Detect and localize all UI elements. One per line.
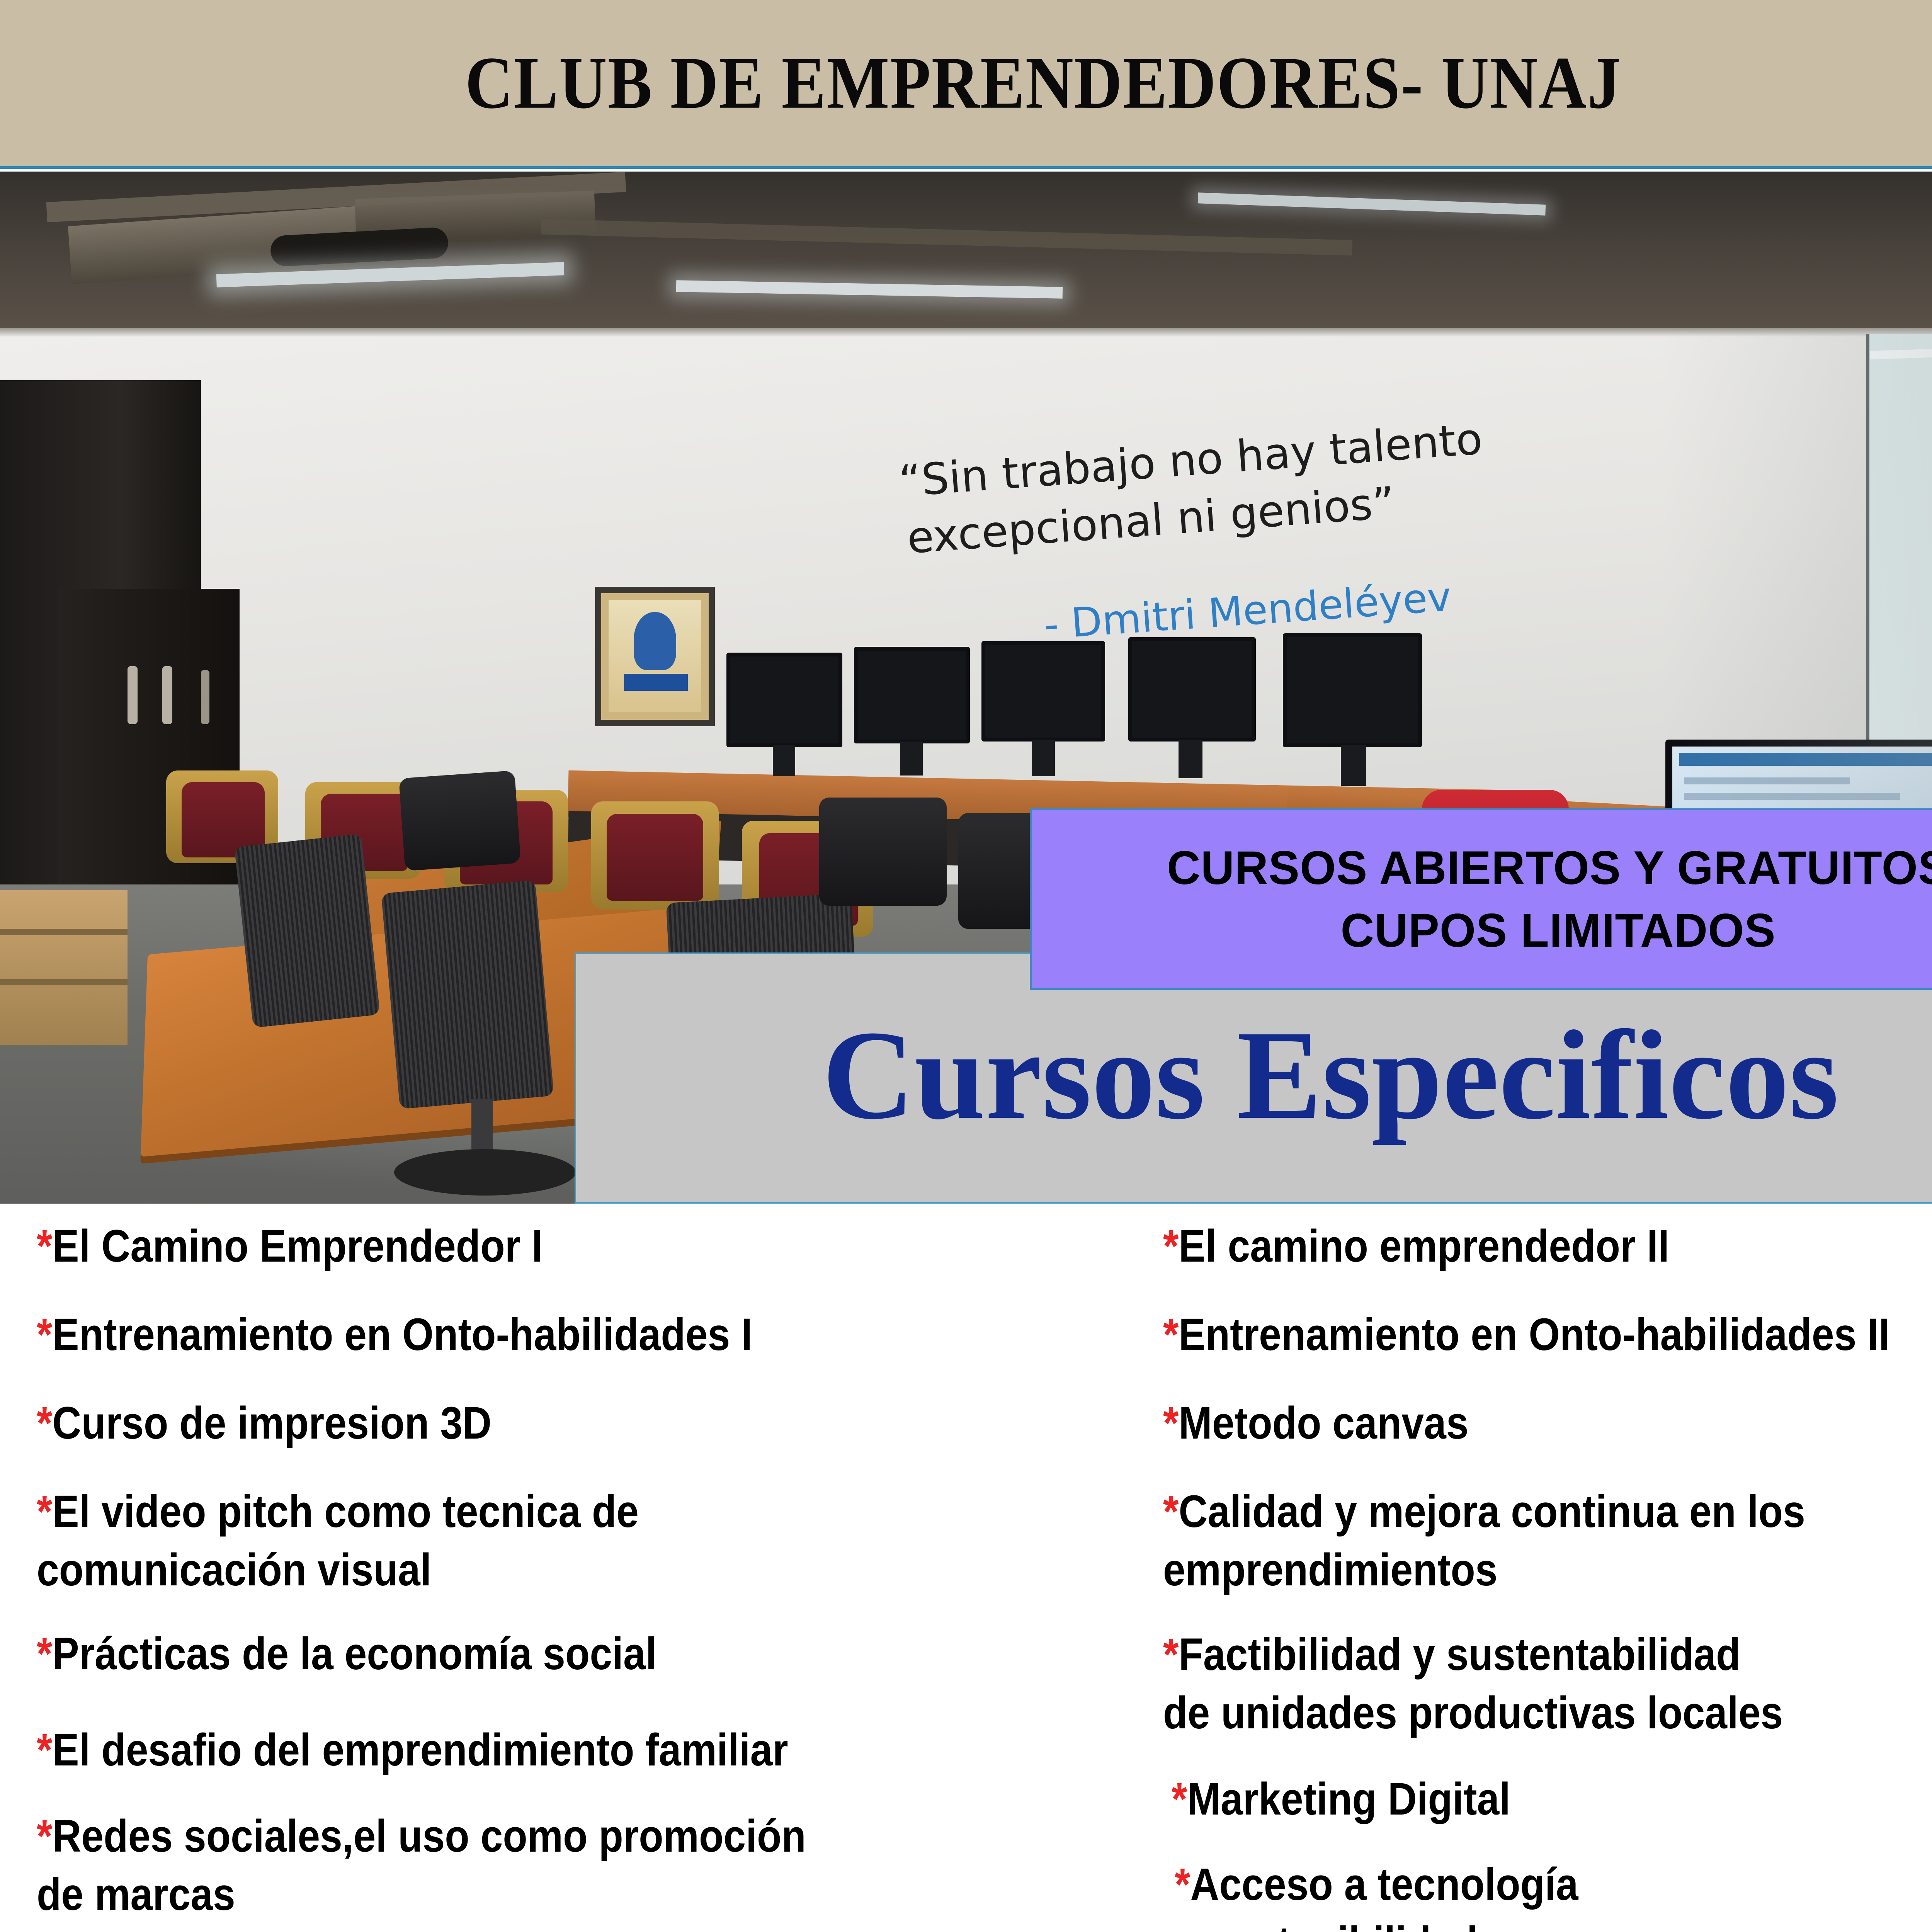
course-label: El video pitch como tecnica de comunicac… xyxy=(37,1486,639,1595)
bullet-asterisk: * xyxy=(1163,1221,1179,1272)
bullet-asterisk: * xyxy=(37,1398,52,1449)
photo-monitor-stand xyxy=(1341,745,1366,786)
photo-chair-dark xyxy=(819,798,947,906)
bullet-asterisk: * xyxy=(37,1309,52,1360)
photo-monitor xyxy=(854,647,970,743)
course-label: Factibilidad y sustentabilidad de unidad… xyxy=(1163,1629,1783,1738)
bullet-asterisk: * xyxy=(37,1725,52,1776)
course-item: *Entrenamiento en Onto-habilidades II xyxy=(1163,1306,1932,1364)
bullet-asterisk: * xyxy=(37,1811,52,1862)
course-item: *Marketing Digital xyxy=(1172,1770,1932,1828)
photo-crate-slat xyxy=(0,929,128,935)
page-title: CLUB DE EMPRENDEDORES- UNAJ xyxy=(465,41,1622,126)
photo-chair-back xyxy=(607,814,703,901)
course-item: *Curso de impresion 3D xyxy=(37,1394,955,1452)
course-item: *El camino emprendedor II xyxy=(1163,1217,1932,1276)
photo-monitor-stand xyxy=(1032,740,1055,776)
course-label: Entrenamiento en Onto-habilidades II xyxy=(1179,1309,1889,1360)
course-label: Entrenamiento en Onto-habilidades I xyxy=(52,1309,752,1360)
bullet-asterisk: * xyxy=(37,1486,52,1537)
photo-wall-poster-label xyxy=(624,674,688,691)
course-label: Redes sociales,el uso como promoción de … xyxy=(37,1811,806,1920)
photo-office-chair xyxy=(234,834,380,1028)
course-label: Marketing Digital xyxy=(1187,1774,1510,1825)
course-label: Prácticas de la economía social xyxy=(52,1628,656,1679)
course-label: Curso de impresion 3D xyxy=(52,1398,492,1449)
course-item: *El video pitch como tecnica de comunica… xyxy=(37,1483,955,1599)
photo-wooden-crate xyxy=(0,890,128,1045)
course-label: El desafio del emprendimiento familiar xyxy=(52,1725,788,1776)
bullet-asterisk: * xyxy=(37,1628,52,1679)
photo-chair-base xyxy=(394,1149,576,1196)
photo-monitor-stand xyxy=(773,745,795,776)
course-list: *El Camino Emprendedor I *Entrenamiento … xyxy=(0,1217,1932,1932)
photo-wall-poster-figure xyxy=(634,612,676,670)
main-title-panel: Cursos Especificos xyxy=(575,952,1932,1204)
course-item: *Factibilidad y sustentabilidad de unida… xyxy=(1163,1626,1932,1742)
course-label: Metodo canvas xyxy=(1179,1398,1468,1449)
bullet-asterisk: * xyxy=(1163,1309,1179,1360)
course-item: *Entrenamiento en Onto-habilidades I xyxy=(37,1306,955,1364)
course-column-right: *El camino emprendedor II *Entrenamiento… xyxy=(1163,1217,1932,1932)
bullet-asterisk: * xyxy=(1172,1774,1187,1825)
course-item: *Metodo canvas xyxy=(1163,1394,1932,1452)
course-label: Calidad y mejora continua en los emprend… xyxy=(1163,1486,1805,1595)
photo-chair-dark xyxy=(399,770,521,871)
photo-right-shadow xyxy=(1662,330,1932,890)
course-item: *Redes sociales,el uso como promoción de… xyxy=(37,1807,955,1924)
photo-monitor xyxy=(981,641,1105,742)
bullet-asterisk: * xyxy=(1163,1398,1179,1449)
photo-cabinet-handle-3 xyxy=(201,670,209,724)
cursos-abiertos-banner: CURSOS ABIERTOS Y GRATUITOS CUPOS LIMITA… xyxy=(1030,808,1932,990)
course-item: *Calidad y mejora continua en los empren… xyxy=(1163,1483,1932,1599)
bullet-asterisk: * xyxy=(1163,1629,1179,1680)
banner-line-1: CURSOS ABIERTOS Y GRATUITOS xyxy=(1167,836,1932,900)
photo-monitor-stand xyxy=(1179,740,1202,778)
course-label: El Camino Emprendedor I xyxy=(52,1221,543,1272)
course-label: Acceso a tecnología y sostenibilidad xyxy=(1175,1859,1578,1932)
main-title: Cursos Especificos xyxy=(822,1002,1839,1148)
bullet-asterisk: * xyxy=(1175,1859,1190,1910)
bullet-asterisk: * xyxy=(37,1221,52,1272)
course-item: *El desafio del emprendimiento familiar xyxy=(37,1721,955,1779)
photo-cabinet-handle xyxy=(128,666,138,724)
photo-monitor-stand xyxy=(900,742,923,776)
course-item: *El Camino Emprendedor I xyxy=(37,1217,955,1276)
photo-monitor xyxy=(1283,633,1422,747)
course-item: *Prácticas de la economía social xyxy=(37,1625,955,1683)
photo-office-chair xyxy=(381,880,554,1109)
course-column-left: *El Camino Emprendedor I *Entrenamiento … xyxy=(37,1217,1080,1932)
photo-cabinet-handle-2 xyxy=(162,666,172,724)
photo-wall-edge xyxy=(0,328,1932,337)
course-label: El camino emprendedor II xyxy=(1179,1221,1669,1272)
bullet-asterisk: * xyxy=(1163,1486,1179,1537)
course-item: *Acceso a tecnología y sostenibilidad xyxy=(1175,1855,1932,1932)
photo-crate-slat-2 xyxy=(0,979,128,985)
poster-header: CLUB DE EMPRENDEDORES- UNAJ xyxy=(0,0,1932,169)
photo-monitor xyxy=(726,653,842,747)
banner-line-2: CUPOS LIMITADOS xyxy=(1340,898,1776,962)
photo-monitor xyxy=(1128,637,1256,742)
